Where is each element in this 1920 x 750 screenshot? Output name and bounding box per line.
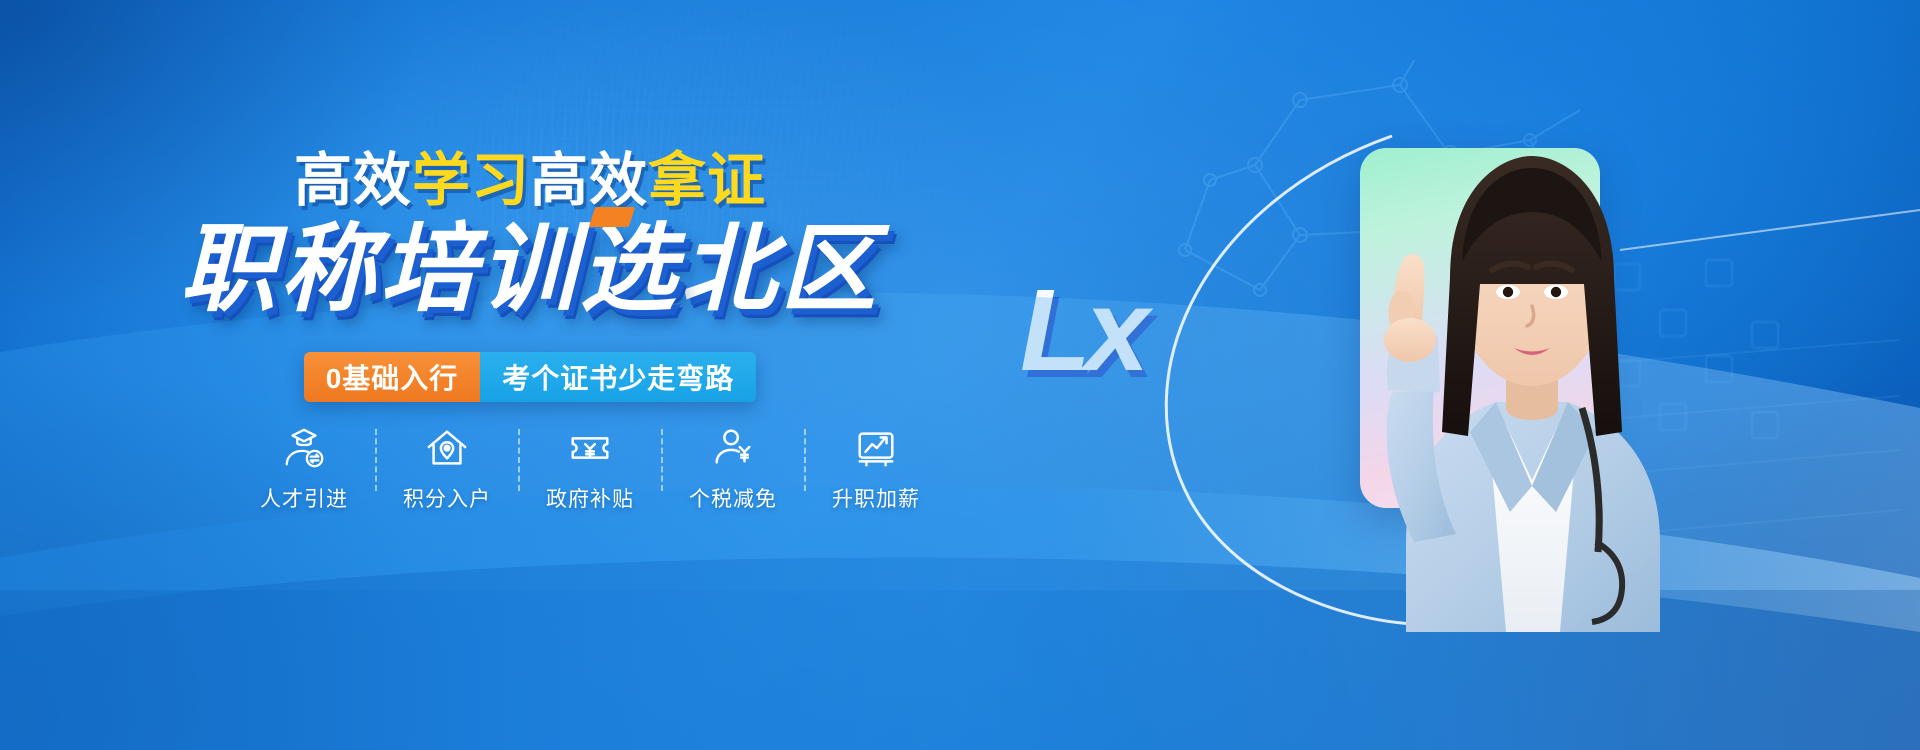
feature-item-promotion[interactable]: 升职加薪 xyxy=(812,425,940,513)
subtitle-seg-2: 高效 xyxy=(530,148,648,213)
promo-banner: Lx xyxy=(0,0,1920,750)
graduate-person-icon xyxy=(281,425,327,471)
title-before: 职称培训 xyxy=(180,216,580,323)
person-yuan-icon xyxy=(710,425,756,471)
title-marked: 选 xyxy=(580,216,680,323)
subtitle: 高效学习高效拿证 xyxy=(0,152,1060,210)
instructor-photo xyxy=(1310,72,1740,632)
copy-block: 高效学习高效拿证 职称培训选北区 0基础入行 考个证书少走弯路 xyxy=(0,0,1060,750)
feature-item-subsidy[interactable]: 政府补贴 xyxy=(526,425,654,513)
subtitle-seg-1: 学习 xyxy=(412,148,530,213)
feature-label: 人才引进 xyxy=(260,483,348,513)
feature-item-talent[interactable]: 人才引进 xyxy=(240,425,368,513)
subtitle-seg-3: 拿证 xyxy=(648,148,766,213)
page-title: 职称培训选北区 xyxy=(0,222,1060,318)
feature-item-tax[interactable]: 个税减免 xyxy=(669,425,797,513)
feature-divider xyxy=(661,429,663,491)
title-after: 北区 xyxy=(680,216,880,323)
badge-primary: 0基础入行 xyxy=(304,352,481,402)
subtitle-seg-0: 高效 xyxy=(294,148,412,213)
feature-label: 升职加薪 xyxy=(832,483,920,513)
feature-divider xyxy=(804,429,806,491)
house-pin-icon xyxy=(424,425,470,471)
tagline-badge: 0基础入行 考个证书少走弯路 xyxy=(0,352,1060,402)
ticket-yuan-icon xyxy=(567,425,613,471)
feature-label: 政府补贴 xyxy=(546,483,634,513)
hero-visual xyxy=(1060,0,1920,750)
growth-chart-icon xyxy=(853,425,899,471)
feature-row: 人才引进 积分入户 xyxy=(240,425,940,513)
badge-secondary: 考个证书少走弯路 xyxy=(480,352,756,402)
feature-divider xyxy=(375,429,377,491)
feature-divider xyxy=(518,429,520,491)
feature-label: 个税减免 xyxy=(689,483,777,513)
feature-item-residency[interactable]: 积分入户 xyxy=(383,425,511,513)
feature-label: 积分入户 xyxy=(403,483,491,513)
